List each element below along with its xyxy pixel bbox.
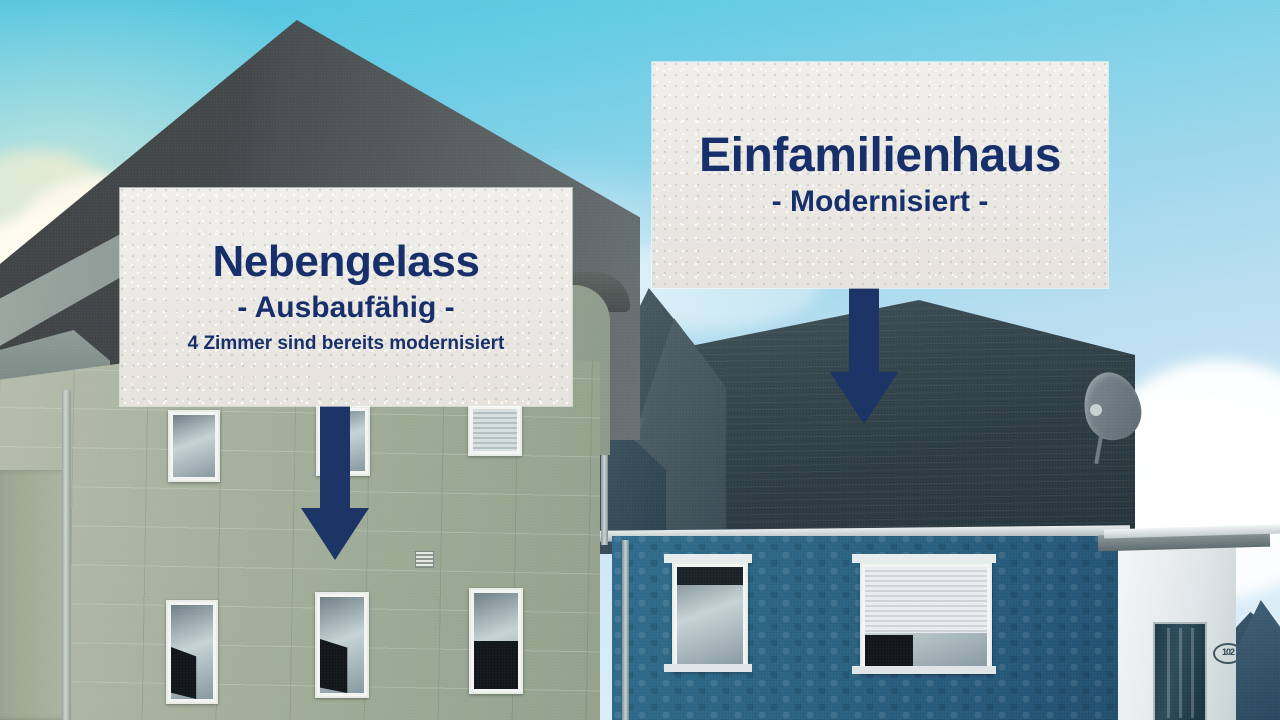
window [672,562,748,672]
door-stripe [1167,628,1170,718]
window-sill [852,554,996,563]
arrow-head [830,372,898,424]
label-title-left: Nebengelass [212,239,479,285]
left-building-corner [0,470,68,720]
screenshot-root: 102 Nebengelass - Au [0,0,1280,720]
label-card-nebengelass: Nebengelass - Ausbaufähig - 4 Zimmer sin… [120,188,572,406]
window [468,404,522,456]
window [469,588,523,694]
label-subtitle-right: - Modernisiert - [772,185,989,220]
window-shutter [865,567,987,633]
house-number-plaque: 102 [1213,643,1243,664]
downpipe [62,390,71,720]
label-title-right: Einfamilienhaus [699,131,1061,181]
label-card-einfamilienhaus: Einfamilienhaus - Modernisiert - [652,62,1108,288]
label-subtitle-left: - Ausbaufähig - [237,291,454,326]
door-stripe [1191,628,1194,718]
arrow-head [301,508,369,560]
downpipe [622,540,629,720]
window-shutter [677,567,743,585]
window-glass [473,409,517,451]
window-sill [664,554,752,563]
satellite-dish-lnb [1090,404,1102,416]
window-dark-pane [474,641,518,689]
window-sill [664,664,752,672]
door-stripe [1179,628,1182,718]
window [315,592,369,698]
window-glass [173,415,215,477]
window [168,410,220,482]
window-dark-pane [865,635,913,669]
window-sill [852,666,996,674]
window [166,600,218,704]
window [860,562,992,674]
label-note-left: 4 Zimmer sind bereits modernisiert [188,333,505,355]
wall-vent [415,551,434,568]
front-door [1153,622,1207,720]
